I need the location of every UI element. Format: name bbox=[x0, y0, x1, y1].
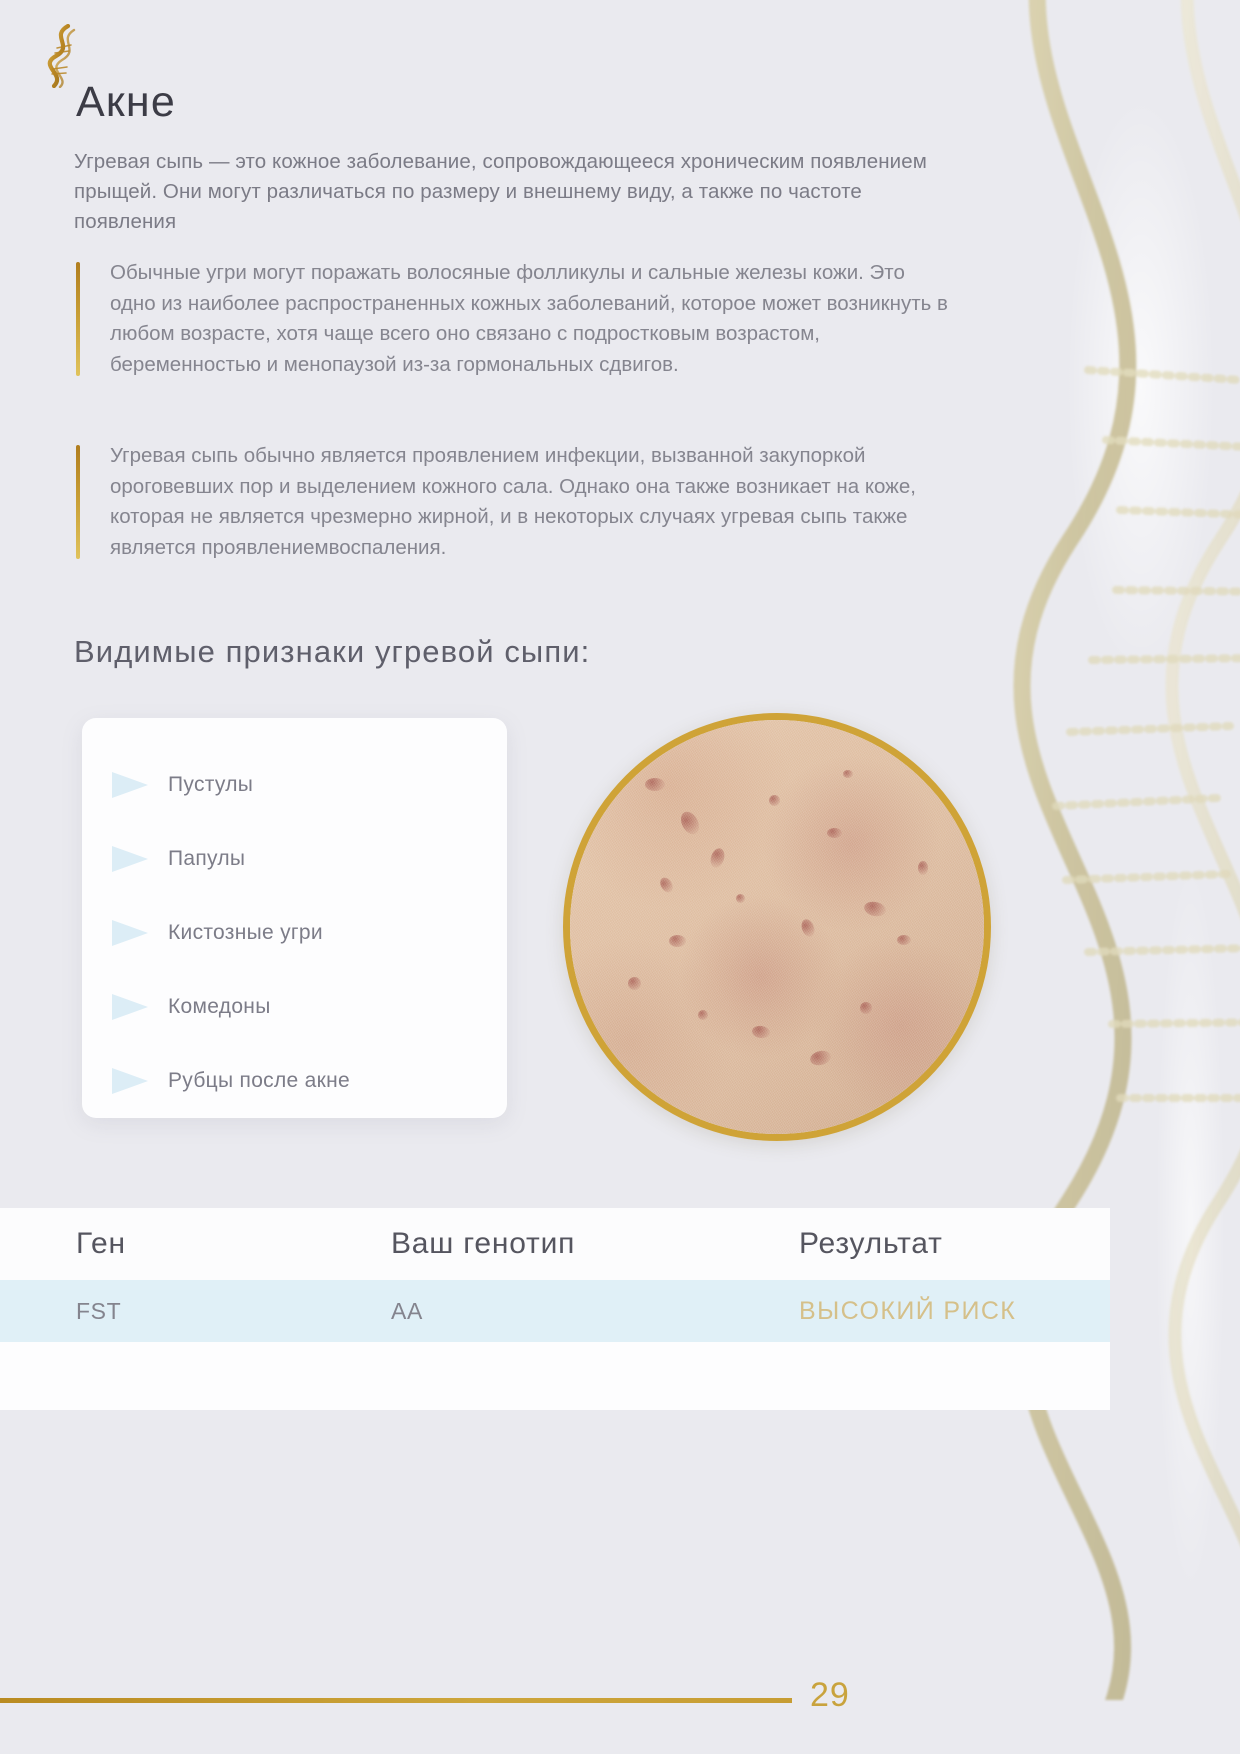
results-table: Ген Ваш генотип Результат FST AA ВЫСОКИЙ… bbox=[0, 1208, 1110, 1410]
list-item-label: Папулы bbox=[168, 847, 245, 871]
list-item-label: Кистозные угри bbox=[168, 921, 323, 945]
page-title: Акне bbox=[76, 78, 176, 127]
quote-block-1-text: Обычные угри могут поражать волосяные фо… bbox=[110, 261, 948, 376]
acne-skin-photo bbox=[563, 713, 991, 1141]
list-item: Папулы bbox=[82, 822, 507, 896]
column-header-result: Результат bbox=[799, 1227, 1110, 1261]
play-arrow-icon bbox=[110, 844, 150, 874]
list-item-label: Рубцы после акне bbox=[168, 1069, 350, 1093]
list-item-label: Комедоны bbox=[168, 995, 271, 1019]
column-header-genotype: Ваш генотип bbox=[391, 1227, 799, 1261]
list-item: Пустулы bbox=[82, 748, 507, 822]
report-page: Акне Угревая сыпь — это кожное заболеван… bbox=[0, 0, 1240, 1754]
table-row: FST AA ВЫСОКИЙ РИСК bbox=[0, 1280, 1110, 1342]
signs-list-card: Пустулы Папулы Кистозные угри Комедоны Р… bbox=[82, 718, 507, 1118]
list-item: Кистозные угри bbox=[82, 896, 507, 970]
cell-result-status-badge: ВЫСОКИЙ РИСК bbox=[799, 1297, 1110, 1326]
footer-rule bbox=[0, 1698, 792, 1703]
quote-block-1: Обычные угри могут поражать волосяные фо… bbox=[76, 258, 956, 380]
column-header-gene: Ген bbox=[76, 1227, 391, 1261]
play-arrow-icon bbox=[110, 1066, 150, 1096]
skin-grain-overlay bbox=[570, 720, 984, 1134]
quote-block-2-text: Угревая сыпь обычно является проявлением… bbox=[110, 444, 916, 559]
table-footer-spacer bbox=[0, 1342, 1110, 1410]
table-header-row: Ген Ваш генотип Результат bbox=[0, 1208, 1110, 1280]
page-number: 29 bbox=[810, 1676, 850, 1715]
list-item: Комедоны bbox=[82, 970, 507, 1044]
intro-paragraph: Угревая сыпь — это кожное заболевание, с… bbox=[74, 147, 954, 237]
cell-gene: FST bbox=[76, 1298, 391, 1325]
cell-genotype: AA bbox=[391, 1298, 799, 1325]
list-item-label: Пустулы bbox=[168, 773, 253, 797]
signs-section-heading: Видимые признаки угревой сыпи: bbox=[74, 634, 590, 670]
quote-block-2: Угревая сыпь обычно является проявлением… bbox=[76, 441, 956, 563]
play-arrow-icon bbox=[110, 918, 150, 948]
play-arrow-icon bbox=[110, 770, 150, 800]
list-item: Рубцы после акне bbox=[82, 1044, 507, 1118]
play-arrow-icon bbox=[110, 992, 150, 1022]
